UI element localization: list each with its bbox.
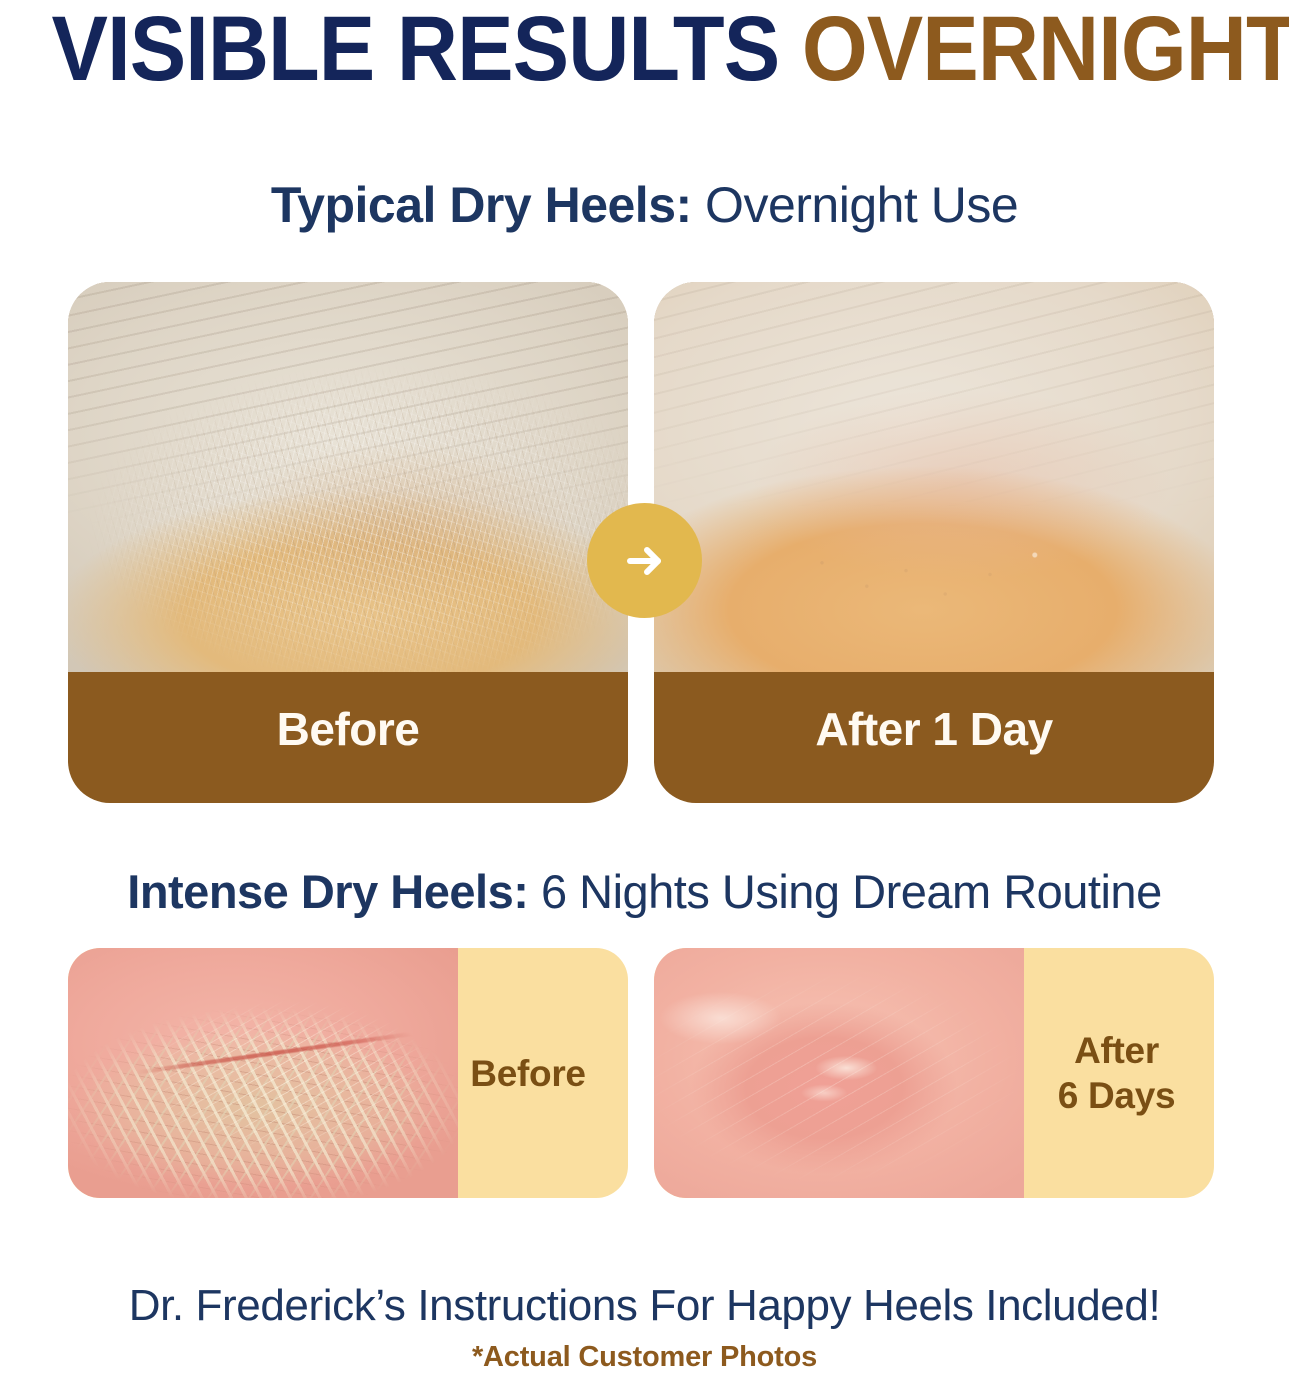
card-caption-line1: After <box>1074 1028 1159 1073</box>
footer-headline: Dr. Frederick’s Instructions For Happy H… <box>0 1279 1289 1333</box>
card-caption: After 1 Day <box>654 703 1214 755</box>
footer-disclaimer: *Actual Customer Photos <box>0 1339 1289 1375</box>
section-title-rest: Overnight Use <box>705 177 1018 233</box>
headline-part-accent: OVERNIGHT <box>802 0 1289 100</box>
before-after-card-intense-after: After 6 Days <box>654 948 1214 1198</box>
section-title-lead: Intense Dry Heels: <box>127 865 541 918</box>
section-title-intense-dry-heels: Intense Dry Heels: 6 Nights Using Dream … <box>0 862 1289 922</box>
section-title-lead: Typical Dry Heels: <box>271 177 705 233</box>
card-caption: After 6 Days <box>1019 948 1214 1198</box>
card-caption: Before <box>428 948 628 1198</box>
arrow-right-icon <box>587 503 702 618</box>
section-title-typical-dry-heels: Typical Dry Heels: Overnight Use <box>0 175 1289 235</box>
before-after-card-typical-before: Before <box>68 282 628 803</box>
headline-part-primary: VISIBLE RESULTS <box>52 0 802 100</box>
page-headline: VISIBLE RESULTS OVERNIGHT <box>52 0 1238 104</box>
before-after-card-typical-after: After 1 Day <box>654 282 1214 803</box>
severely-cracked-heel-photo <box>68 948 458 1198</box>
card-caption-line2: 6 Days <box>1058 1073 1176 1118</box>
dry-cracked-heel-photo <box>68 282 628 672</box>
section-title-rest: 6 Nights Using Dream Routine <box>541 865 1162 918</box>
card-caption-line1: Before <box>470 1051 585 1096</box>
before-after-card-intense-before: Before <box>68 948 628 1198</box>
healed-heel-photo <box>654 948 1024 1198</box>
smooth-heel-photo <box>654 282 1214 672</box>
card-caption: Before <box>68 703 628 755</box>
comparison-row-intense: Before After 6 Days <box>68 948 1214 1198</box>
